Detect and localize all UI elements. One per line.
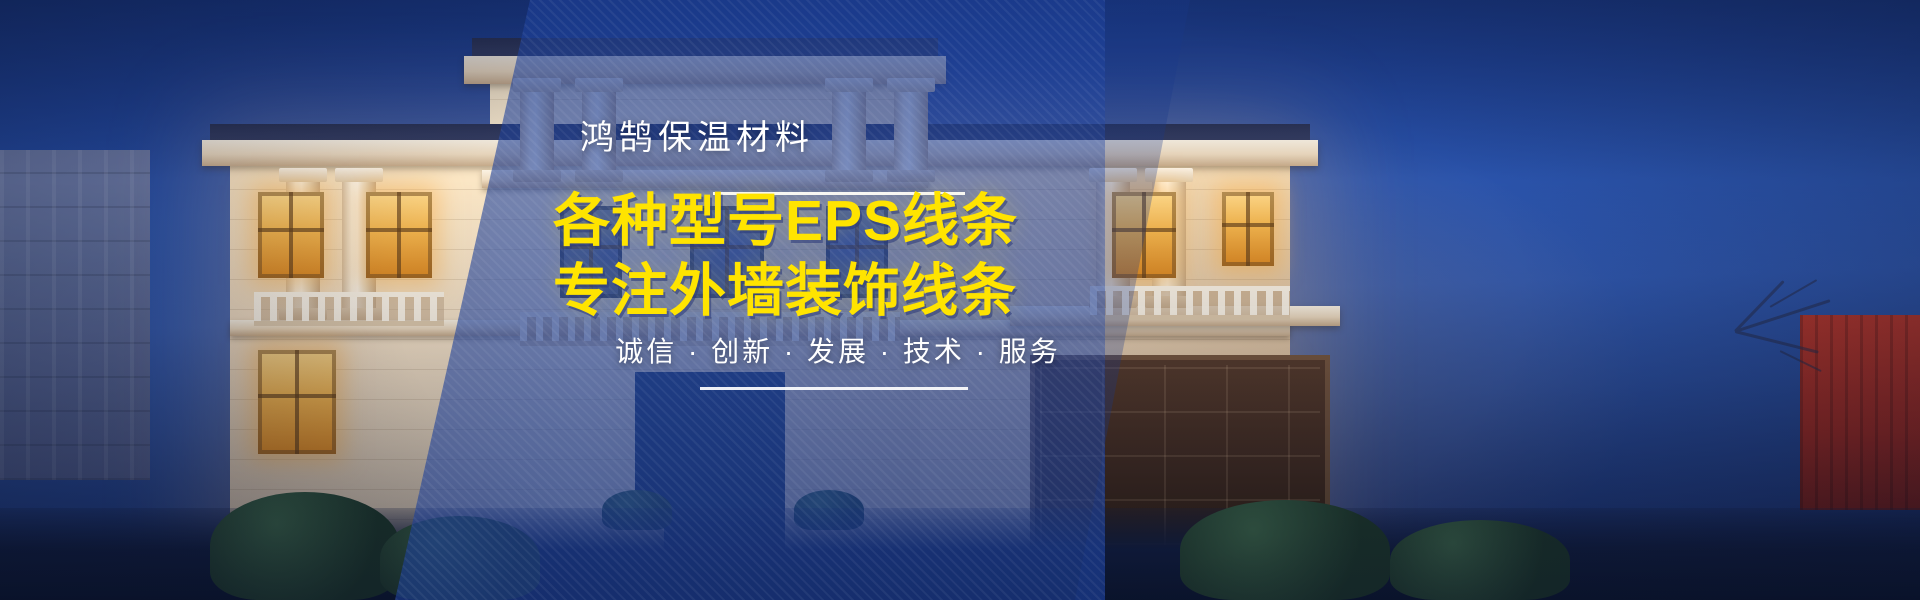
hero-banner: 鸿鹄保温材料 各种型号EPS线条 专注外墙装饰线条 诚信 · 创新 · 发展 ·… xyxy=(0,0,1920,600)
